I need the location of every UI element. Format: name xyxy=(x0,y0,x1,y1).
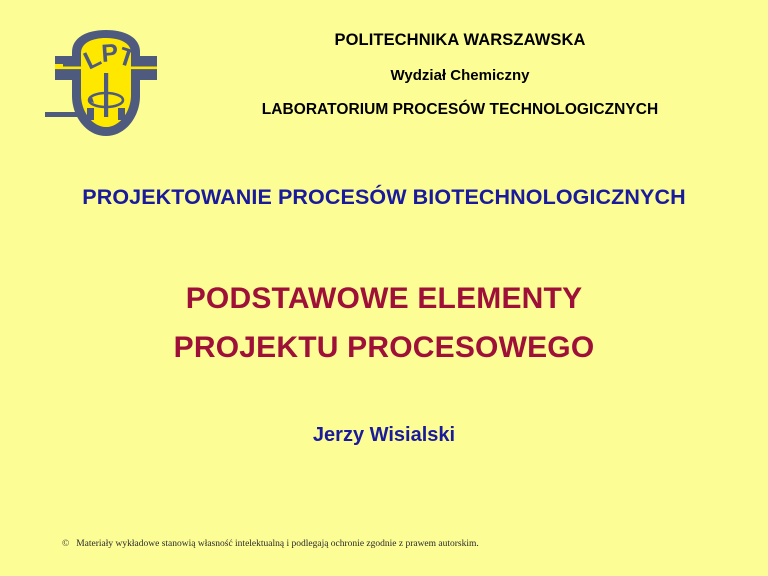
lpt-reactor-logo: L P T xyxy=(45,24,167,142)
author-name: Jerzy Wisialski xyxy=(0,424,768,447)
institution-heading: POLITECHNIKA WARSZAWSKA Wydział Chemiczn… xyxy=(170,32,750,117)
slide-main-title: PODSTAWOWE ELEMENTY PROJEKTU PROCESOWEGO xyxy=(0,275,768,373)
lpt-logo-svg: L P T xyxy=(45,24,167,142)
slide-header: L P T POLITECHNIKA WARSZAWSKA Wydział Ch… xyxy=(0,24,768,144)
copyright-text: Materiały wykładowe stanowią własność in… xyxy=(76,539,479,549)
copyright-icon: © xyxy=(62,539,69,549)
institution-line-laboratory: LABORATORIUM PROCESÓW TECHNOLOGICZNYCH xyxy=(170,102,750,118)
main-title-line-2: PROJEKTU PROCESOWEGO xyxy=(0,324,768,373)
course-title: PROJEKTOWANIE PROCESÓW BIOTECHNOLOGICZNY… xyxy=(0,185,768,210)
main-title-line-1: PODSTAWOWE ELEMENTY xyxy=(0,275,768,324)
copyright-footer: ©Materiały wykładowe stanowią własność i… xyxy=(62,539,722,550)
institution-line-faculty: Wydział Chemiczny xyxy=(170,68,750,83)
institution-line-university: POLITECHNIKA WARSZAWSKA xyxy=(170,32,750,49)
presentation-title-slide: L P T POLITECHNIKA WARSZAWSKA Wydział Ch… xyxy=(0,0,768,576)
